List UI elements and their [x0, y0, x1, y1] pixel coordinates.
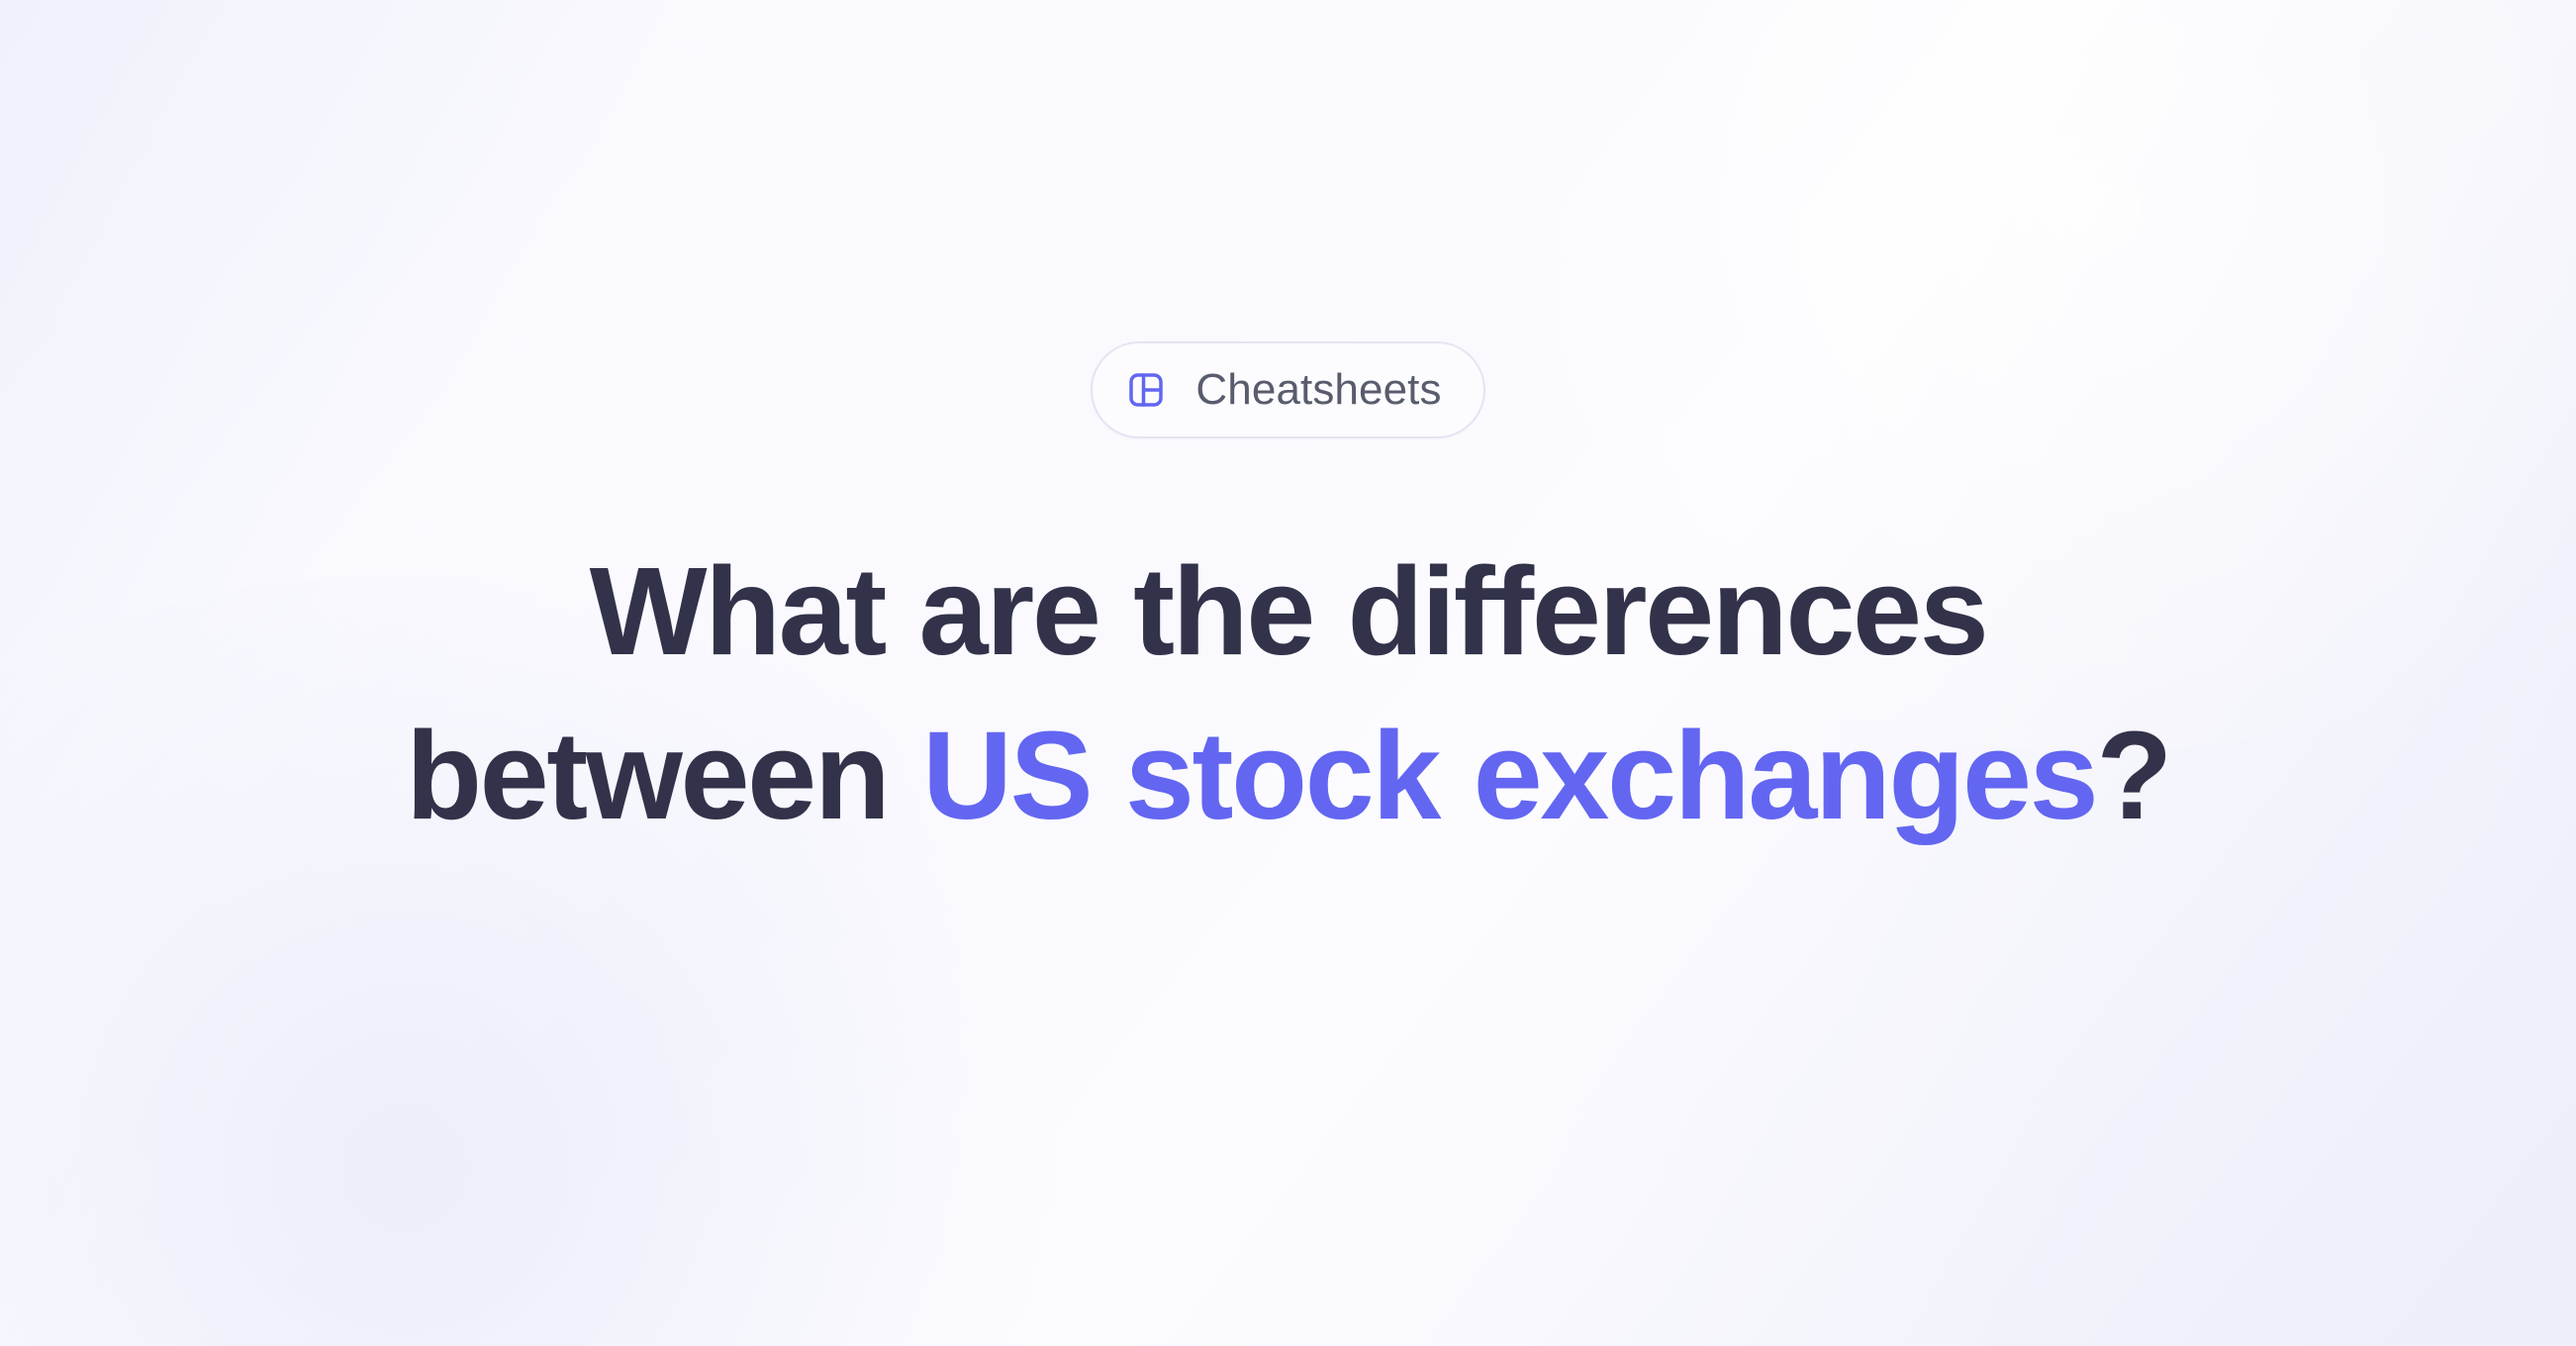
hero-section: Cheatsheets What are the differences bet…: [0, 0, 2576, 1346]
page-title: What are the differences between US stoc…: [180, 529, 2397, 858]
cheatsheets-badge-label: Cheatsheets: [1195, 368, 1441, 412]
headline-line-1: What are the differences: [180, 529, 2397, 694]
layout-panel-icon: [1126, 370, 1166, 410]
headline-line-2-prefix: between: [406, 706, 922, 845]
headline-line-2-suffix: ?: [2096, 706, 2170, 845]
headline-line-1-text: What are the differences: [590, 541, 1987, 681]
cheatsheets-badge[interactable]: Cheatsheets: [1091, 341, 1484, 438]
headline-accent-phrase: US stock exchanges: [922, 706, 2096, 845]
headline-line-2: between US stock exchanges?: [180, 694, 2397, 858]
